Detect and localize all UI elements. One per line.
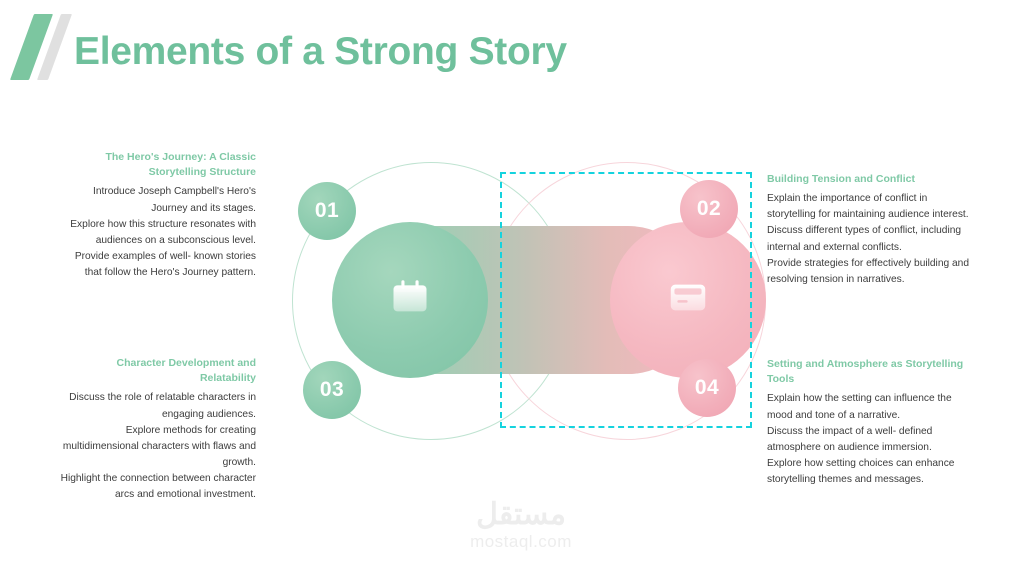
watermark-latin: mostaql.com <box>446 532 596 552</box>
step-number-01[interactable]: 01 <box>298 182 356 240</box>
text-block-03: Character Development and Relatability D… <box>58 356 256 503</box>
page-title: Elements of a Strong Story <box>74 30 567 74</box>
text-block-02-heading: Building Tension and Conflict <box>767 172 975 187</box>
watermark-arabic: مستقل <box>446 500 596 530</box>
text-block-02-body: Explain the importance of conflict in st… <box>767 191 975 288</box>
text-block-02: Building Tension and Conflict Explain th… <box>767 172 975 288</box>
lobe-left[interactable] <box>332 222 488 378</box>
text-block-01-body: Introduce Joseph Campbell's Hero's Journ… <box>58 184 256 281</box>
text-block-01-heading: The Hero's Journey: A Classic Storytelli… <box>58 150 256 180</box>
slide-canvas: Elements of a Strong Story The Hero's Jo… <box>0 0 1027 572</box>
text-block-04: Setting and Atmosphere as Storytelling T… <box>767 357 979 488</box>
slide-header: Elements of a Strong Story <box>0 0 1027 110</box>
selection-box[interactable] <box>500 172 752 428</box>
watermark: مستقل mostaql.com <box>446 500 596 552</box>
text-block-03-body: Discuss the role of relatable characters… <box>58 390 256 503</box>
text-block-01: The Hero's Journey: A Classic Storytelli… <box>58 150 256 281</box>
text-block-03-heading: Character Development and Relatability <box>58 356 256 386</box>
text-block-04-body: Explain how the setting can influence th… <box>767 391 979 488</box>
step-number-03[interactable]: 03 <box>303 361 361 419</box>
text-block-04-heading: Setting and Atmosphere as Storytelling T… <box>767 357 979 387</box>
calendar-icon <box>388 276 432 325</box>
